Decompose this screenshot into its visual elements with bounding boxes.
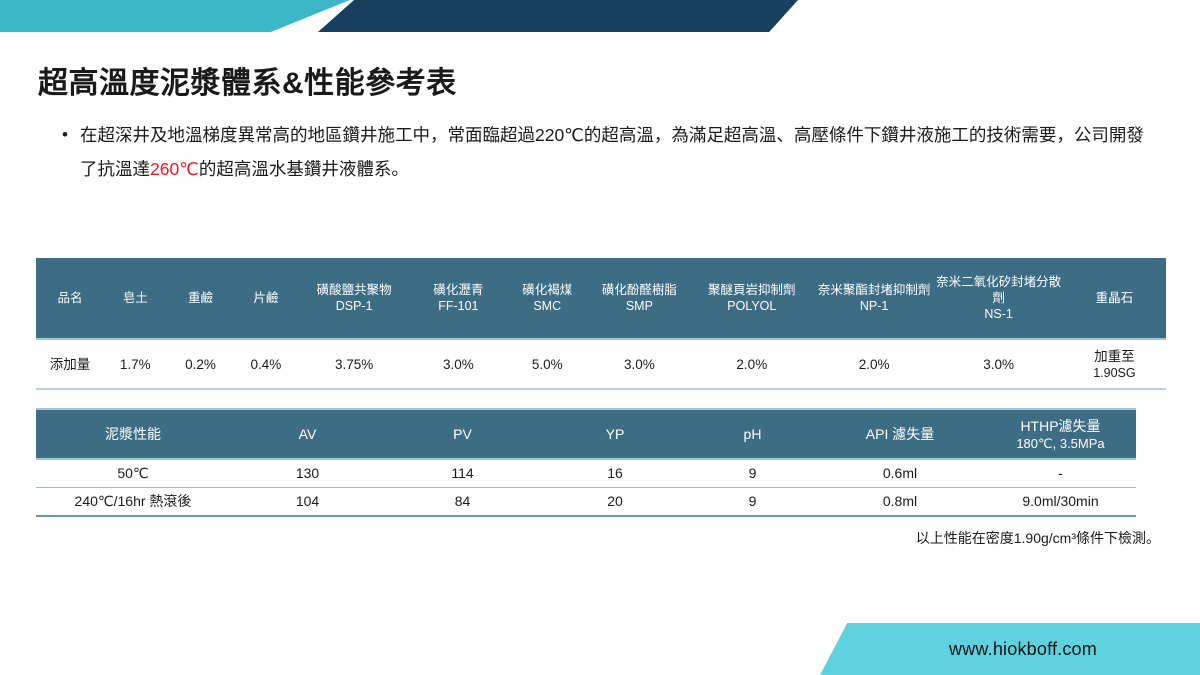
perf-header-hthp: HTHP濾失量 180℃, 3.5MPa <box>985 409 1136 459</box>
footer-decorative-bar: www.hiokboff.com <box>820 623 1200 675</box>
perf-row-1-api: 0.8ml <box>815 488 985 517</box>
mix-header-cell-7: 磺化酚醛樹脂 SMP <box>589 258 690 339</box>
mix-value-cell-0: 1.7% <box>104 339 167 389</box>
perf-header-api: API 濾失量 <box>815 409 985 459</box>
mix-value-cell-7: 2.0% <box>690 339 814 389</box>
intro-bullet-row: • 在超深井及地溫梯度異常高的地區鑽井施工中，常面臨超過220℃的超高溫，為滿足… <box>62 118 1152 186</box>
mix-value-cell-baryte: 加重至 1.90SG <box>1063 339 1166 389</box>
mix-header-cell-10: 奈米二氧化矽封堵分散劑 NS-1 <box>934 258 1062 339</box>
mix-header-name-5: 磺化瀝青 <box>433 283 483 297</box>
perf-row-1-ph: 9 <box>690 488 815 517</box>
intro-text-part2: 的超高溫水基鑽井液體系。 <box>199 159 409 179</box>
intro-bullet-text: 在超深井及地溫梯度異常高的地區鑽井施工中，常面臨超過220℃的超高溫，為滿足超高… <box>80 118 1152 186</box>
mix-header-code-8: POLYOL <box>691 298 813 314</box>
mix-value-cell-5: 5.0% <box>506 339 589 389</box>
perf-row-0-yp: 16 <box>540 459 690 488</box>
bullet-dot-icon: • <box>62 118 80 152</box>
perf-row-1-pv: 84 <box>385 488 540 517</box>
mix-formula-table: 品名 皂土 重鹼 片鹼 磺酸鹽共聚物 DSP-1 磺化瀝青 FF-101 磺化褐… <box>36 258 1166 390</box>
perf-header-yp: YP <box>540 409 690 459</box>
mix-header-cell-11: 重晶石 <box>1063 258 1166 339</box>
footnote-text: 以上性能在密度1.90g/cm³條件下檢測。 <box>916 528 1160 548</box>
top-bar-teal-segment <box>0 0 350 32</box>
mix-header-cell-0: 品名 <box>36 258 104 339</box>
mix-header-name-7: 磺化酚醛樹脂 <box>602 283 677 297</box>
intro-paragraph-block: • 在超深井及地溫梯度異常高的地區鑽井施工中，常面臨超過220℃的超高溫，為滿足… <box>62 118 1152 186</box>
perf-row-0-label: 50℃ <box>36 459 230 488</box>
mix-header-name-0: 品名 <box>58 291 83 305</box>
mix-header-name-3: 片鹼 <box>253 291 278 305</box>
mix-header-cell-8: 聚醚頁岩抑制劑 POLYOL <box>690 258 814 339</box>
perf-row-0-api: 0.6ml <box>815 459 985 488</box>
intro-highlight-temperature: 260℃ <box>150 159 199 179</box>
mix-header-name-6: 磺化褐煤 <box>522 283 572 297</box>
mix-header-cell-2: 重鹼 <box>167 258 235 339</box>
perf-row-0-pv: 114 <box>385 459 540 488</box>
mix-value-cell-3: 3.75% <box>297 339 411 389</box>
mix-header-code-4: DSP-1 <box>298 298 410 314</box>
mix-header-cell-3: 片鹼 <box>235 258 298 339</box>
mix-header-code-10: NS-1 <box>935 306 1061 322</box>
mix-header-cell-1: 皂土 <box>104 258 167 339</box>
mix-header-cell-9: 奈米聚酯封堵抑制劑 NP-1 <box>814 258 935 339</box>
perf-header-row-label: 泥漿性能 <box>36 409 230 459</box>
perf-table-row: 240℃/16hr 熱滾後 104 84 20 9 0.8ml 9.0ml/30… <box>36 488 1136 517</box>
perf-header-hthp-sub: 180℃, 3.5MPa <box>987 435 1134 452</box>
perf-row-0-ph: 9 <box>690 459 815 488</box>
perf-header-pv: PV <box>385 409 540 459</box>
page-title: 超高溫度泥漿體系&性能參考表 <box>38 58 457 102</box>
mix-header-cell-6: 磺化褐煤 SMC <box>506 258 589 339</box>
mix-value-cell-4: 3.0% <box>411 339 505 389</box>
mix-header-name-2: 重鹼 <box>188 291 213 305</box>
mix-value-cell-6: 3.0% <box>589 339 690 389</box>
mix-header-name-9: 奈米聚酯封堵抑制劑 <box>818 283 931 297</box>
mix-header-code-5: FF-101 <box>412 298 504 314</box>
top-bar-navy-segment <box>318 0 798 32</box>
mix-header-code-7: SMP <box>590 298 689 314</box>
mix-value-cell-1: 0.2% <box>167 339 235 389</box>
perf-row-1-yp: 20 <box>540 488 690 517</box>
perf-table-header-row: 泥漿性能 AV PV YP pH API 濾失量 HTHP濾失量 180℃, 3… <box>36 409 1136 459</box>
mix-header-cell-4: 磺酸鹽共聚物 DSP-1 <box>297 258 411 339</box>
perf-table-row: 50℃ 130 114 16 9 0.6ml - <box>36 459 1136 488</box>
mix-header-code-9: NP-1 <box>815 298 934 314</box>
mix-header-name-1: 皂土 <box>123 291 148 305</box>
perf-header-hthp-main: HTHP濾失量 <box>1020 418 1100 434</box>
mix-value-cell-8: 2.0% <box>814 339 935 389</box>
mix-value-cell-9: 3.0% <box>934 339 1062 389</box>
mix-value-cell-2: 0.4% <box>235 339 298 389</box>
mix-header-cell-5: 磺化瀝青 FF-101 <box>411 258 505 339</box>
perf-row-1-hthp: 9.0ml/30min <box>985 488 1136 517</box>
performance-table: 泥漿性能 AV PV YP pH API 濾失量 HTHP濾失量 180℃, 3… <box>36 408 1136 517</box>
baryte-value-line2: 1.90SG <box>1064 365 1165 381</box>
mix-row-label: 添加量 <box>36 339 104 389</box>
perf-header-av: AV <box>230 409 385 459</box>
perf-header-ph: pH <box>690 409 815 459</box>
mix-table-header-row: 品名 皂土 重鹼 片鹼 磺酸鹽共聚物 DSP-1 磺化瀝青 FF-101 磺化褐… <box>36 258 1166 339</box>
mix-header-name-8: 聚醚頁岩抑制劑 <box>708 283 796 297</box>
mix-header-code-6: SMC <box>507 298 588 314</box>
mix-header-name-11: 重晶石 <box>1096 291 1134 305</box>
mix-header-name-4: 磺酸鹽共聚物 <box>317 283 392 297</box>
perf-row-0-hthp: - <box>985 459 1136 488</box>
baryte-value-line1: 加重至 <box>1094 349 1135 364</box>
perf-row-1-label: 240℃/16hr 熱滾後 <box>36 488 230 517</box>
perf-row-0-av: 130 <box>230 459 385 488</box>
footer-website-url: www.hiokboff.com <box>820 623 1200 675</box>
perf-row-1-av: 104 <box>230 488 385 517</box>
mix-header-name-10: 奈米二氧化矽封堵分散劑 <box>936 275 1061 305</box>
top-decorative-bar <box>0 0 1200 32</box>
mix-table-row: 添加量 1.7% 0.2% 0.4% 3.75% 3.0% 5.0% 3.0% … <box>36 339 1166 389</box>
